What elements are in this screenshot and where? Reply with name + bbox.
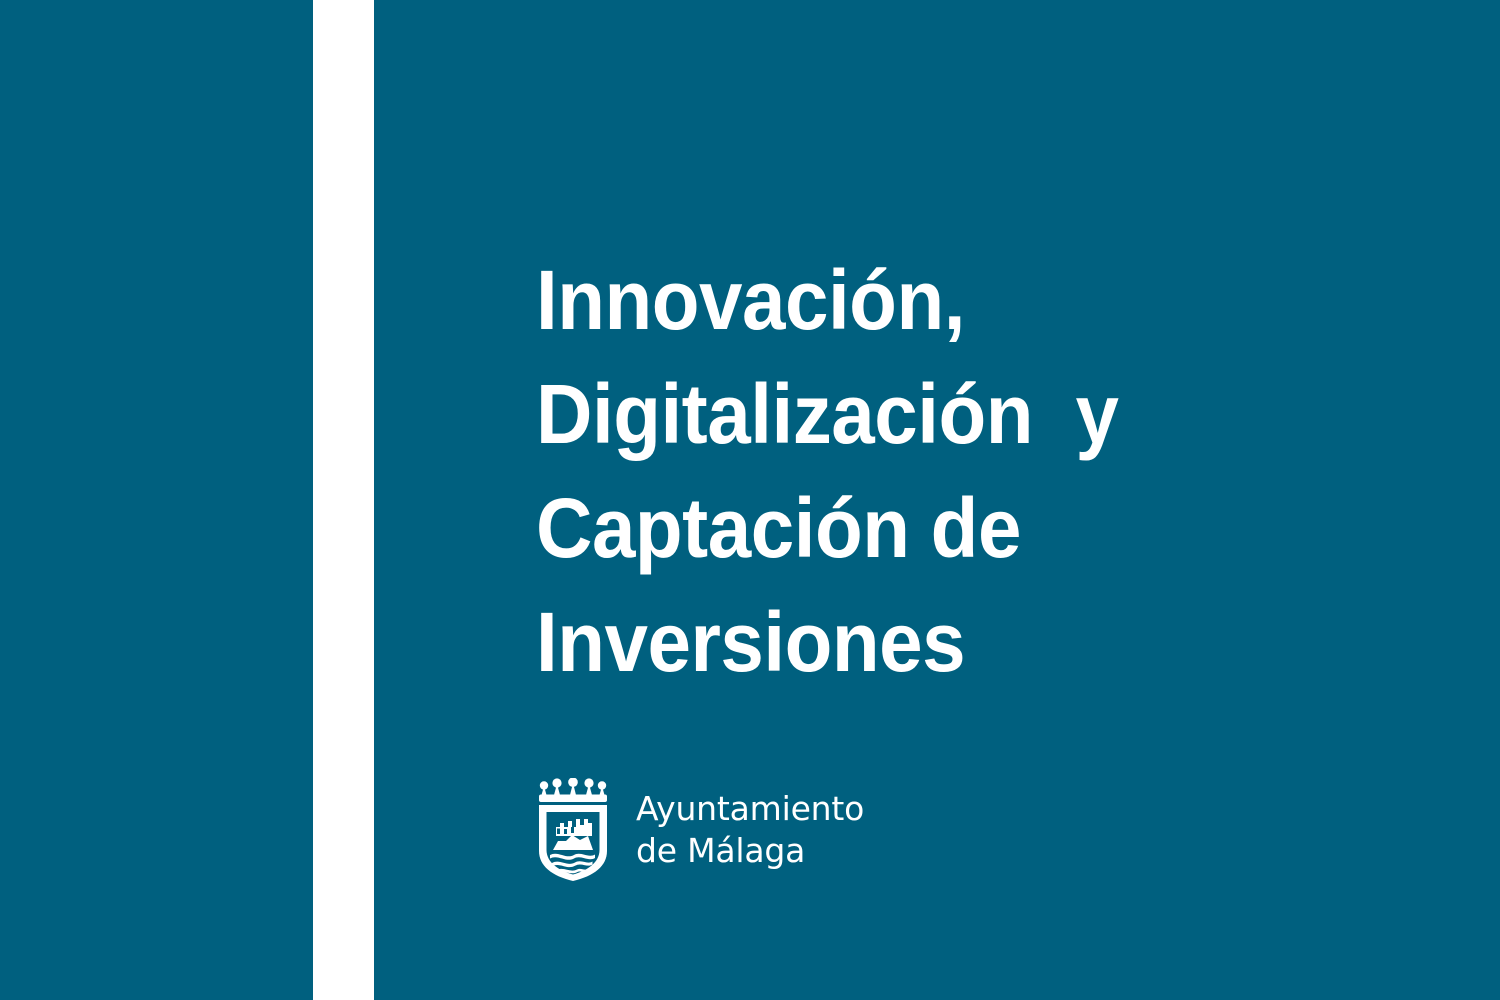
ayuntamiento-de-malaga-logo: Ayuntamiento de Málaga [536, 778, 864, 882]
title-line-4: Inversiones [536, 585, 1261, 699]
logo-wordmark-line-1: Ayuntamiento [636, 788, 864, 830]
logo-wordmark: Ayuntamiento de Málaga [636, 788, 864, 872]
title-line-1: Innovación, [536, 243, 1261, 357]
title-line-3: Captación de [536, 471, 1261, 585]
logo-wordmark-line-2: de Málaga [636, 830, 864, 872]
title-slide: Innovación, Digitalización y Captación d… [0, 0, 1500, 1000]
page-title: Innovación, Digitalización y Captación d… [536, 243, 1316, 699]
crowned-shield-icon [536, 778, 610, 882]
left-color-band [0, 0, 313, 1000]
title-line-2: Digitalización y [536, 357, 1261, 471]
white-vertical-stripe [313, 0, 374, 1000]
